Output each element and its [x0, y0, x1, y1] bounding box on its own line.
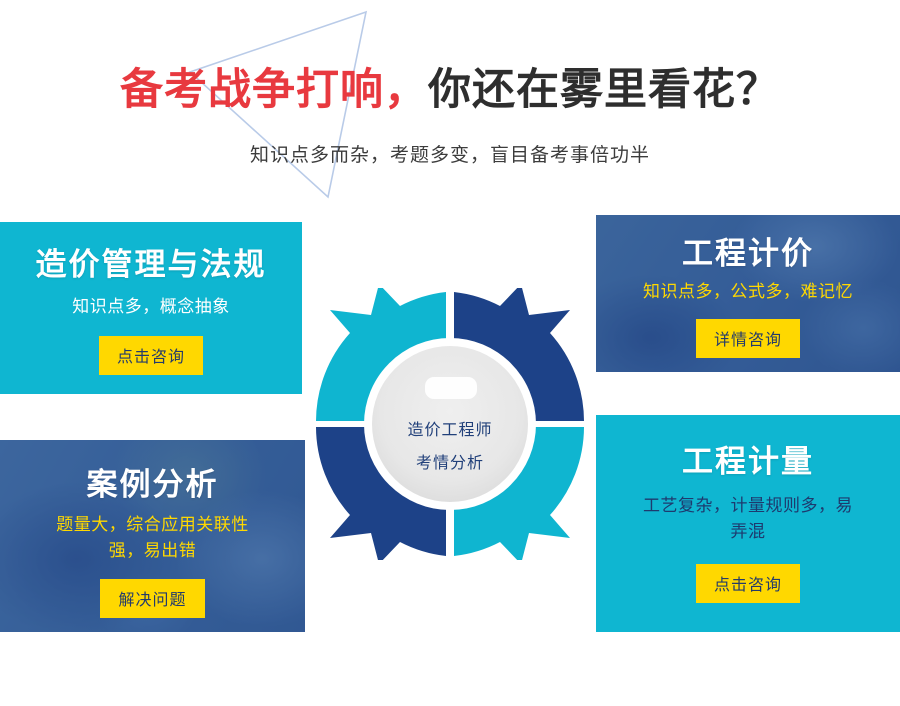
- card-content: 案例分析 题量大，综合应用关联性 强，易出错 解决问题: [0, 440, 305, 618]
- card-cta-wrap: 点击咨询: [0, 336, 302, 375]
- cta-button-cost-management[interactable]: 点击咨询: [99, 336, 203, 375]
- header-section: 备考战争打响，你还在雾里看花？ 知识点多而杂，考题多变，盲目备考事倍功半: [0, 0, 900, 215]
- hub-label-line1: 造价工程师: [303, 416, 597, 440]
- card-engineering-measurement[interactable]: 工程计量 工艺复杂，计量规则多，易 弄混 点击咨询: [596, 415, 900, 632]
- card-title: 工程计价: [596, 237, 900, 271]
- card-content: 造价管理与法规 知识点多，概念抽象 点击咨询: [0, 222, 302, 375]
- hub-label-line2: 考情分析: [303, 449, 597, 473]
- cta-button-case-analysis[interactable]: 解决问题: [100, 579, 204, 618]
- card-case-analysis[interactable]: 案例分析 题量大，综合应用关联性 强，易出错 解决问题: [0, 440, 305, 632]
- card-title: 造价管理与法规: [0, 248, 302, 282]
- page-title-accent: 备考战争打响: [120, 66, 384, 114]
- card-subtitle: 知识点多，概念抽象: [0, 294, 302, 320]
- card-content: 工程计价 知识点多，公式多，难记忆 详情咨询: [596, 215, 900, 358]
- card-subtitle: 知识点多，公式多，难记忆: [596, 279, 900, 305]
- card-subtitle-line2: 强，易出错: [0, 538, 305, 564]
- card-title: 案例分析: [0, 468, 305, 502]
- hub-highlight-icon: [425, 377, 477, 399]
- center-ring-diagram: 造价工程师 考情分析: [303, 288, 597, 560]
- card-subtitle-line1: 题量大，综合应用关联性: [0, 512, 305, 538]
- card-subtitle-line1: 工艺复杂，计量规则多，易: [596, 493, 900, 519]
- card-cta-wrap: 点击咨询: [596, 564, 900, 603]
- promo-banner: 备考战争打响，你还在雾里看花？ 知识点多而杂，考题多变，盲目备考事倍功半 造价管…: [0, 0, 900, 706]
- page-title-comma: ，: [384, 66, 428, 114]
- card-cta-wrap: 解决问题: [0, 579, 305, 618]
- card-cost-management[interactable]: 造价管理与法规 知识点多，概念抽象 点击咨询: [0, 222, 302, 394]
- card-cta-wrap: 详情咨询: [596, 319, 900, 358]
- card-engineering-valuation[interactable]: 工程计价 知识点多，公式多，难记忆 详情咨询: [596, 215, 900, 372]
- cta-button-valuation[interactable]: 详情咨询: [696, 319, 800, 358]
- card-title: 工程计量: [596, 445, 900, 479]
- page-title: 备考战争打响，你还在雾里看花？: [0, 66, 900, 115]
- page-subtitle: 知识点多而杂，考题多变，盲目备考事倍功半: [0, 140, 900, 167]
- card-content: 工程计量 工艺复杂，计量规则多，易 弄混 点击咨询: [596, 415, 900, 603]
- cta-button-measurement[interactable]: 点击咨询: [696, 564, 800, 603]
- card-subtitle-line2: 弄混: [596, 519, 900, 545]
- page-title-rest: 你还在雾里看花？: [428, 66, 780, 114]
